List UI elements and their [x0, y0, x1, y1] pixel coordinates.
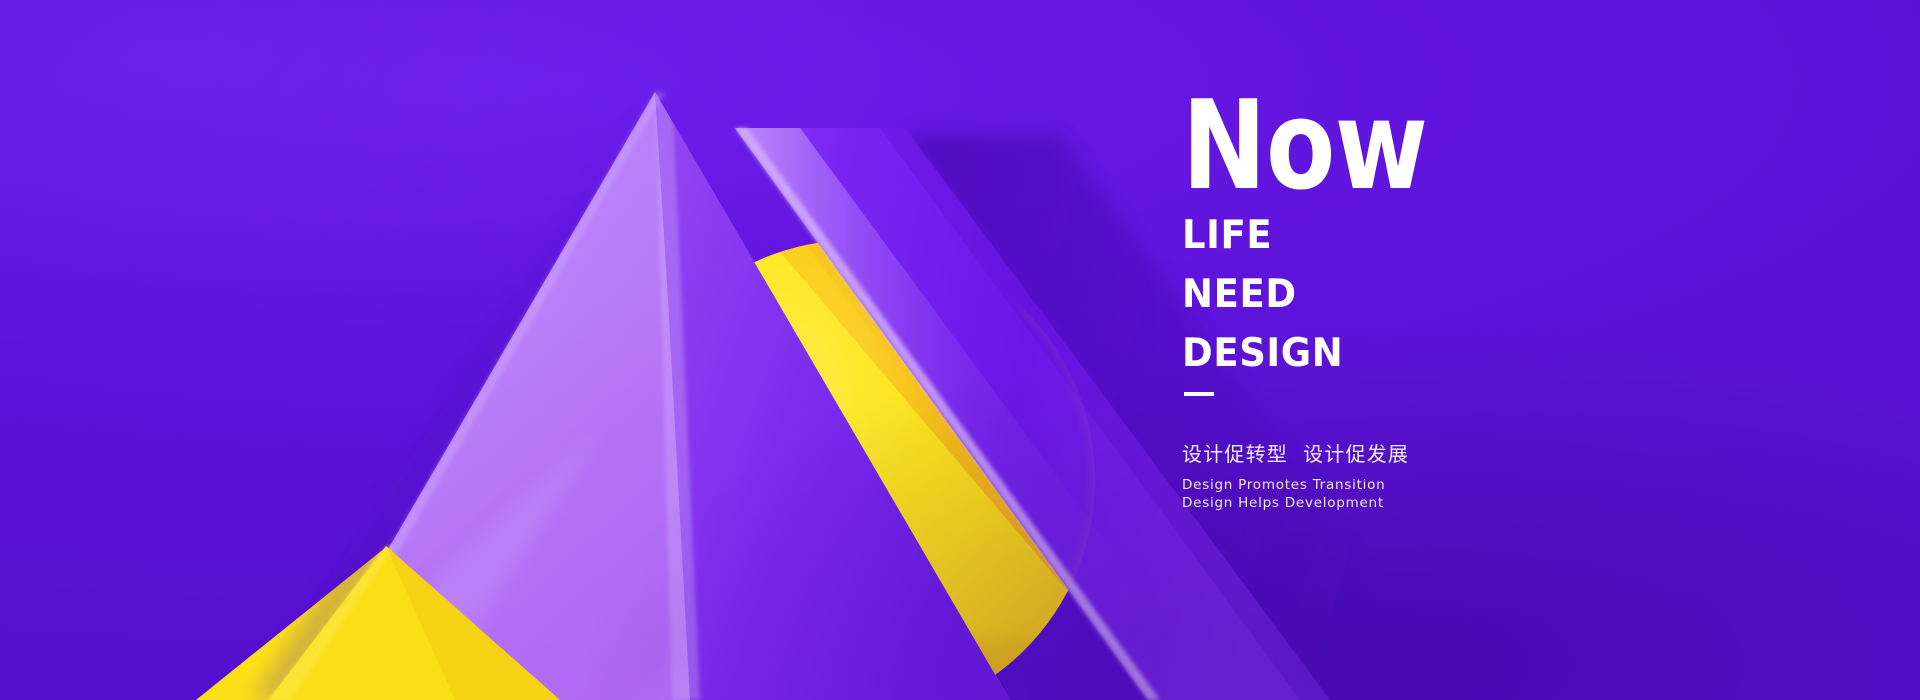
tagline-block: 设计促转型 设计促发展 Design Promotes Transition D…	[1182, 438, 1742, 512]
divider-rule	[1184, 392, 1214, 396]
headline-now: Now	[1182, 96, 1725, 197]
tagline-english-line-2: Design Helps Development	[1182, 495, 1742, 512]
headline-line-need: NEED	[1182, 274, 1742, 313]
headline-line-design: DESIGN	[1182, 333, 1742, 372]
hero-copy: Now LIFE NEED DESIGN 设计促转型 设计促发展 Design …	[1182, 96, 1742, 512]
headline-line-life: LIFE	[1182, 215, 1742, 254]
hero-banner: Now LIFE NEED DESIGN 设计促转型 设计促发展 Design …	[0, 0, 1920, 700]
headline-stack: LIFE NEED DESIGN	[1182, 215, 1742, 370]
tagline-english-line-1: Design Promotes Transition	[1182, 477, 1742, 494]
tagline-chinese: 设计促转型 设计促发展	[1182, 438, 1742, 467]
